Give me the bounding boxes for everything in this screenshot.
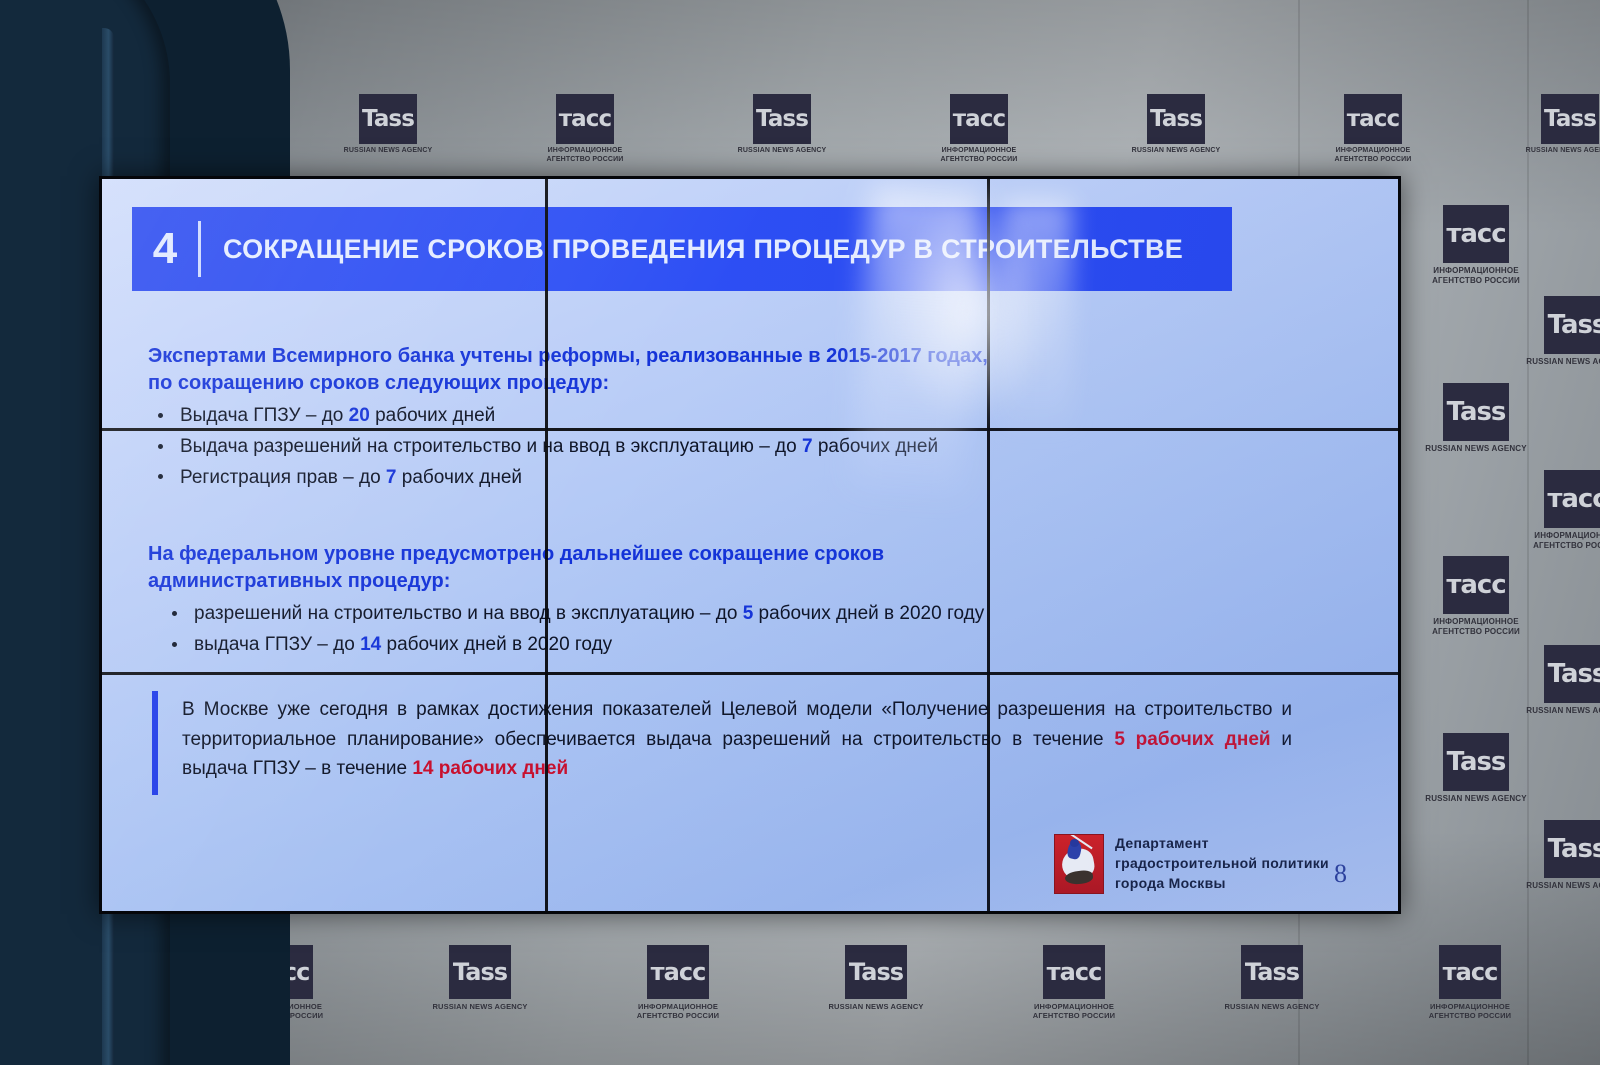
tass-caption: RUSSIAN NEWS AGENCY [1523, 881, 1600, 891]
tass-caption: RUSSIAN NEWS AGENCY [1422, 794, 1530, 804]
tass-mark: Tass [1544, 820, 1600, 878]
tass-mark: тасс [1344, 94, 1402, 144]
panel-seam-horizontal [102, 428, 1398, 431]
bullet-text-suffix: рабочих дней [397, 467, 523, 488]
bullet-value: 20 [349, 405, 370, 426]
tass-logo: Tass RUSSIAN NEWS AGENCY [826, 945, 926, 1011]
tass-mark: тасс [556, 94, 614, 144]
department-name: Департамент градостроительной политики г… [1115, 834, 1329, 894]
panel-seam-vertical [987, 179, 990, 911]
tass-mark: тасс [1443, 556, 1509, 614]
bullet-text-suffix: рабочих дней в 2020 году [753, 603, 984, 624]
bullet-value: 14 [360, 634, 381, 655]
bullet-item: разрешений на строительство и на ввод в … [160, 599, 1280, 630]
quote-block: В Москве уже сегодня в рамках достижения… [182, 695, 1292, 784]
tass-caption: RUSSIAN NEWS AGENCY [826, 1002, 926, 1011]
tass-logo: Tass RUSSIAN NEWS AGENCY [340, 94, 436, 156]
panel-seam-vertical [545, 179, 548, 911]
tass-caption: RUSSIAN NEWS AGENCY [1422, 444, 1530, 454]
tass-logo: тасс ИНФОРМАЦИОННОЕ АГЕНТСТВО РОССИИ [628, 945, 728, 1020]
tass-caption: RUSSIAN NEWS AGENCY [340, 147, 436, 156]
section1-lead: Экспертами Всемирного банка учтены рефор… [148, 343, 1208, 396]
moscow-coat-of-arms-icon [1054, 834, 1104, 894]
section2-lead: На федеральном уровне предусмотрено даль… [148, 541, 1208, 594]
screenshot-scene: тасс ИНФОРМАЦИОННОЕ АГЕНТСТВО РОССИИ Tas… [0, 0, 1600, 1065]
tass-logo: Tass RUSSIAN NEWS AGENCY [430, 945, 530, 1011]
department-logo: Департамент градостроительной политики г… [1054, 834, 1329, 894]
tass-mark: Tass [1541, 94, 1599, 144]
section1-bullets: Выдача ГПЗУ – до 20 рабочих днейВыдача р… [146, 401, 1266, 493]
bullet-text-suffix: рабочих дней [813, 436, 939, 457]
tass-caption: RUSSIAN NEWS AGENCY [1523, 357, 1600, 367]
tass-caption: ИНФОРМАЦИОННОЕ АГЕНТСТВО РОССИИ [628, 1002, 728, 1020]
bullet-text-suffix: рабочих дней [370, 405, 496, 426]
bullet-text: разрешений на строительство и на ввод в … [194, 603, 743, 624]
tass-caption: ИНФОРМАЦИОННОЕ АГЕНТСТВО РОССИИ [1523, 531, 1600, 551]
tass-logo: Tass RUSSIAN NEWS AGENCY [1522, 94, 1600, 156]
tass-logo: тасс ИНФОРМАЦИОННОЕ АГЕНТСТВО РОССИИ [1420, 945, 1520, 1020]
tass-caption: ИНФОРМАЦИОННОЕ АГЕНТСТВО РОССИИ [1422, 617, 1530, 637]
bullet-item: выдача ГПЗУ – до 14 рабочих дней в 2020 … [160, 630, 1280, 661]
tass-caption: ИНФОРМАЦИОННОЕ АГЕНТСТВО РОССИИ [537, 147, 633, 164]
tass-mark: Tass [845, 945, 907, 999]
tass-logo: Tass RUSSIAN NEWS AGENCY [1523, 296, 1600, 367]
bullet-text-suffix: рабочих дней в 2020 году [381, 634, 612, 655]
tass-caption: RUSSIAN NEWS AGENCY [734, 147, 830, 156]
presentation-screen: ПАТЕЛЬСТВО 4 СОКРАЩЕНИЕ СРОКОВ ПРОВЕДЕНИ… [102, 179, 1398, 911]
tass-logo: Tass RUSSIAN NEWS AGENCY [1422, 733, 1530, 804]
tass-logo: Tass RUSSIAN NEWS AGENCY [1523, 645, 1600, 716]
tass-mark: тасс [1439, 945, 1501, 999]
quote-highlight-1: 5 рабочих дней [1114, 729, 1270, 750]
bullet-item: Выдача разрешений на строительство и на … [146, 432, 1266, 463]
tass-caption: ИНФОРМАЦИОННОЕ АГЕНТСТВО РОССИИ [1420, 1002, 1520, 1020]
tass-mark: Tass [1443, 733, 1509, 791]
tass-mark: Tass [1147, 94, 1205, 144]
bullet-text: Выдача ГПЗУ – до [180, 405, 349, 426]
bullet-dot-icon [158, 444, 163, 449]
slide-title: СОКРАЩЕНИЕ СРОКОВ ПРОВЕДЕНИЯ ПРОЦЕДУР В … [223, 234, 1183, 265]
tass-mark: тасс [950, 94, 1008, 144]
bullet-value: 7 [386, 467, 397, 488]
tass-logo: Tass RUSSIAN NEWS AGENCY [1523, 820, 1600, 891]
panel-seam-horizontal [102, 672, 1398, 675]
tass-mark: Tass [359, 94, 417, 144]
slide-section-number: 4 [136, 224, 194, 274]
tass-logo: Tass RUSSIAN NEWS AGENCY [1222, 945, 1322, 1011]
tass-caption: RUSSIAN NEWS AGENCY [1523, 706, 1600, 716]
bullet-text: выдача ГПЗУ – до [194, 634, 360, 655]
bullet-text: Регистрация прав – до [180, 467, 386, 488]
bullet-dot-icon [172, 642, 177, 647]
tass-logo: Tass RUSSIAN NEWS AGENCY [734, 94, 830, 156]
tass-mark: Tass [449, 945, 511, 999]
bullet-item: Регистрация прав – до 7 рабочих дней [146, 463, 1266, 494]
tass-caption: RUSSIAN NEWS AGENCY [1222, 1002, 1322, 1011]
bullet-value: 5 [743, 603, 754, 624]
bullet-value: 7 [802, 436, 813, 457]
tass-caption: ИНФОРМАЦИОННОЕ АГЕНТСТВО РОССИИ [1024, 1002, 1124, 1020]
slide-page-number: 8 [1334, 859, 1347, 889]
bullet-dot-icon [158, 474, 163, 479]
bullet-text: Выдача разрешений на строительство и на … [180, 436, 802, 457]
tass-mark: Tass [753, 94, 811, 144]
tass-logo: Tass RUSSIAN NEWS AGENCY [1422, 383, 1530, 454]
presentation-slide: ПАТЕЛЬСТВО 4 СОКРАЩЕНИЕ СРОКОВ ПРОВЕДЕНИ… [102, 179, 1398, 911]
section2-bullets: разрешений на строительство и на ввод в … [160, 599, 1280, 661]
slide-title-band: 4 СОКРАЩЕНИЕ СРОКОВ ПРОВЕДЕНИЯ ПРОЦЕДУР … [132, 207, 1232, 291]
tass-mark: Tass [1544, 645, 1600, 703]
tass-mark: Tass [1241, 945, 1303, 999]
tass-mark: тасс [1544, 470, 1600, 528]
tass-logo: Tass RUSSIAN NEWS AGENCY [1128, 94, 1224, 156]
title-divider [198, 221, 201, 277]
tass-caption: RUSSIAN NEWS AGENCY [1128, 147, 1224, 156]
tass-caption: ИНФОРМАЦИОННОЕ АГЕНТСТВО РОССИИ [931, 147, 1027, 164]
tass-caption: ИНФОРМАЦИОННОЕ АГЕНТСТВО РОССИИ [1422, 266, 1530, 286]
tass-mark: тасс [1443, 205, 1509, 263]
tass-mark: Tass [1443, 383, 1509, 441]
tass-caption: RUSSIAN NEWS AGENCY [1522, 147, 1600, 156]
video-wall-monitor: ПАТЕЛЬСТВО 4 СОКРАЩЕНИЕ СРОКОВ ПРОВЕДЕНИ… [99, 176, 1401, 914]
bullet-dot-icon [172, 611, 177, 616]
tass-mark: Tass [1544, 296, 1600, 354]
tass-logo: тасс ИНФОРМАЦИОННОЕ АГЕНТСТВО РОССИИ [1523, 470, 1600, 551]
tass-logo: тасс ИНФОРМАЦИОННОЕ АГЕНТСТВО РОССИИ [1325, 94, 1421, 164]
tass-caption: RUSSIAN NEWS AGENCY [430, 1002, 530, 1011]
helmet-shape [1070, 839, 1079, 847]
tass-mark: тасс [1043, 945, 1105, 999]
quote-accent-bar [152, 691, 158, 795]
tass-logo: тасс ИНФОРМАЦИОННОЕ АГЕНТСТВО РОССИИ [1024, 945, 1124, 1020]
tass-mark: тасс [647, 945, 709, 999]
tass-caption: ИНФОРМАЦИОННОЕ АГЕНТСТВО РОССИИ [1325, 147, 1421, 164]
tass-logo: тасс ИНФОРМАЦИОННОЕ АГЕНТСТВО РОССИИ [1422, 556, 1530, 637]
tass-logo: тасс ИНФОРМАЦИОННОЕ АГЕНТСТВО РОССИИ [537, 94, 633, 164]
bullet-dot-icon [158, 413, 163, 418]
tass-logo: тасс ИНФОРМАЦИОННОЕ АГЕНТСТВО РОССИИ [931, 94, 1027, 164]
tass-logo: тасс ИНФОРМАЦИОННОЕ АГЕНТСТВО РОССИИ [1422, 205, 1530, 286]
